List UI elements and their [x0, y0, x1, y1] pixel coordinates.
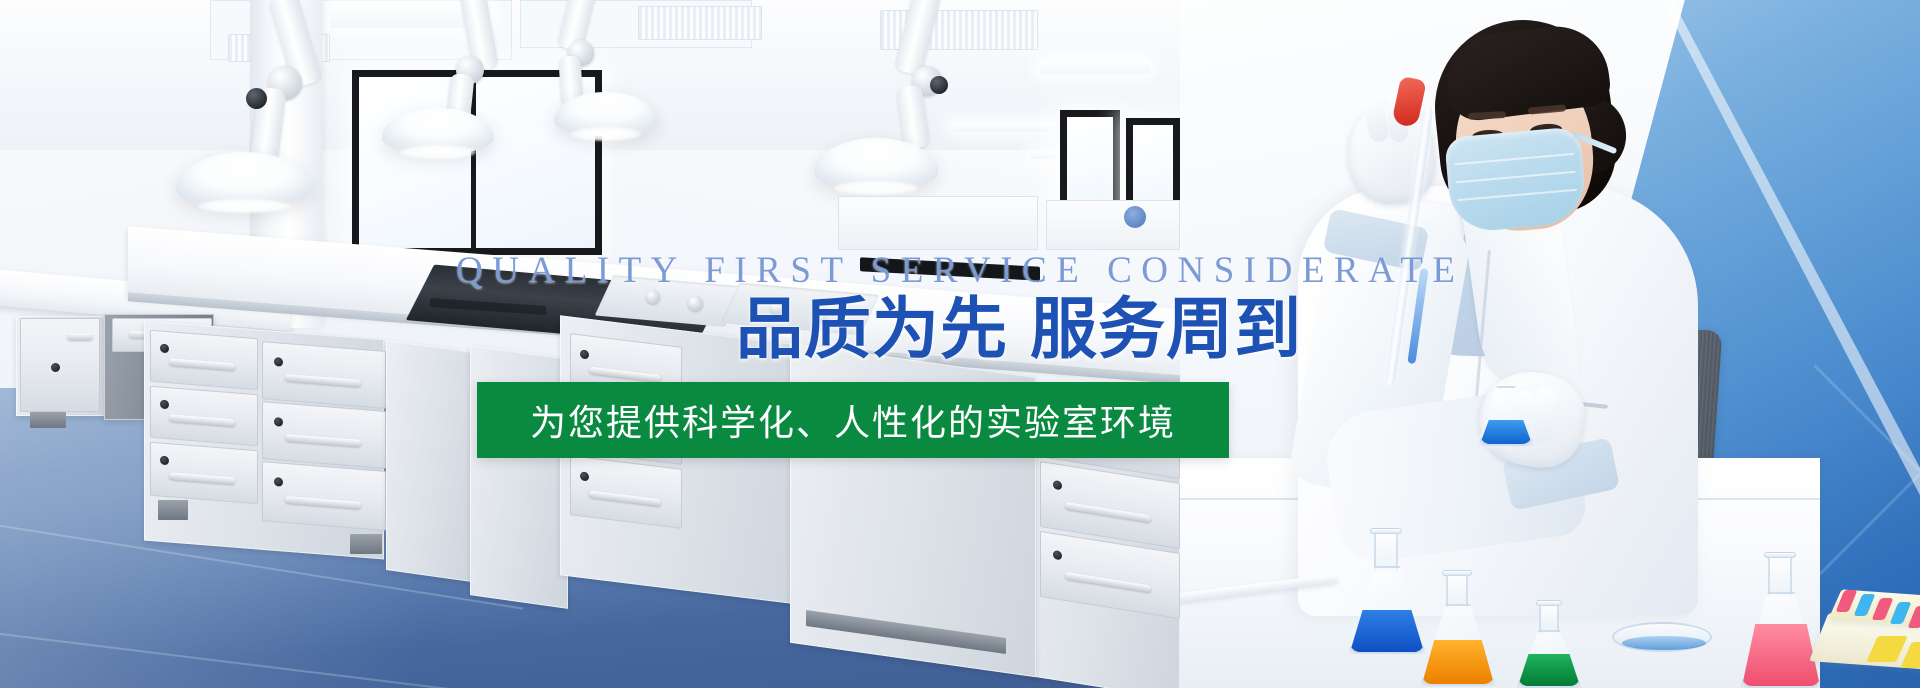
- reagent-shelf: [1046, 200, 1180, 250]
- reagent-shelf: [838, 196, 1038, 250]
- flask-neck: [1539, 606, 1559, 634]
- ceiling-air-grille: [638, 6, 762, 40]
- flask-pink-liquid: [1742, 624, 1820, 686]
- headline-part-1: 品质为先: [736, 290, 1008, 368]
- banner-subtitle-bar: 为您提供科学化、人性化的实验室环境: [477, 382, 1229, 458]
- fume-extraction-arm: [868, 0, 1008, 160]
- cabinet-door: [20, 318, 100, 412]
- cabinet-drawer: [262, 341, 386, 409]
- bench-service-valve: [688, 296, 703, 311]
- petri-dish: [1612, 622, 1712, 652]
- cabinet-drawer: [150, 386, 258, 446]
- cabinet-plinth: [30, 412, 66, 428]
- flask-orange-liquid: [1422, 640, 1494, 684]
- fume-extraction-arm: [262, 0, 392, 170]
- flask-blue-liquid: [1350, 610, 1424, 652]
- equipment-logo-icon: [1124, 206, 1146, 228]
- cabinet-drawer: [150, 442, 258, 504]
- banner-eyebrow-text: QUALITY FIRST SERVICE CONSIDERATE: [456, 249, 1464, 292]
- promo-banner: QUALITY FIRST SERVICE CONSIDERATE 品质为先服务…: [0, 0, 1920, 688]
- cabinet-drawer: [262, 461, 386, 531]
- cabinet-plinth: [350, 534, 382, 554]
- headline-part-2: 服务周到: [1030, 290, 1302, 368]
- cabinet-drawer: [150, 330, 258, 390]
- flask-neck: [1446, 576, 1468, 608]
- held-flask-liquid: [1480, 420, 1532, 444]
- flask-green-liquid: [1518, 654, 1580, 686]
- cabinet-drawer: [262, 401, 386, 469]
- ceiling-light-strip: [1040, 60, 1150, 74]
- cabinet-plinth: [158, 500, 188, 520]
- bench-service-valve: [646, 290, 660, 304]
- flask-neck: [1768, 558, 1792, 596]
- island-side-panel: [386, 340, 472, 582]
- banner-subtitle-text: 为您提供科学化、人性化的实验室环境: [530, 394, 1176, 446]
- petri-dish-contents: [1622, 636, 1706, 650]
- banner-headline: 品质为先服务周到: [736, 296, 1302, 363]
